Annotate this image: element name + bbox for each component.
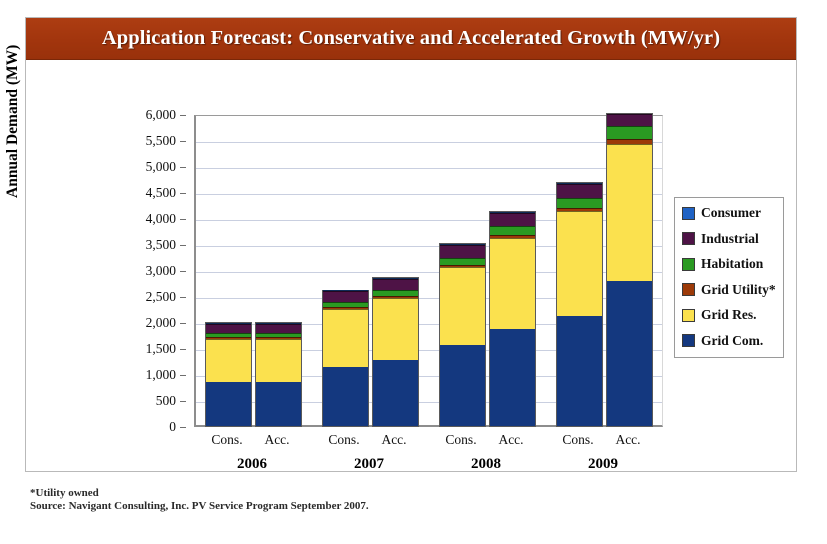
bar-segment-consumer: [490, 212, 535, 213]
x-axis-scenario-label: Cons.: [211, 432, 242, 448]
x-axis-scenario-label: Cons.: [562, 432, 593, 448]
y-axis-tick-labels: 05001,0001,5002,0002,5003,0003,5004,0004…: [124, 115, 186, 427]
bar-2007-cons-[interactable]: [322, 290, 369, 427]
y-axis-tick: [180, 349, 186, 350]
y-axis-tick-label: 0: [169, 419, 176, 435]
bar-segment-industrial: [256, 324, 301, 333]
bar-segment-grid-com-: [323, 367, 368, 426]
bar-segment-habitation: [607, 126, 652, 139]
legend-label-grid-res: Grid Res.: [701, 307, 757, 323]
bar-segment-grid-com-: [440, 345, 485, 426]
y-axis-tick: [180, 141, 186, 142]
y-axis-tick: [180, 193, 186, 194]
bar-2009-acc-[interactable]: [606, 113, 653, 427]
chart-title-bar: Application Forecast: Conservative and A…: [26, 18, 796, 60]
legend-swatch-consumer: [682, 207, 695, 220]
y-axis-tick: [180, 115, 186, 116]
bar-segment-industrial: [323, 291, 368, 301]
y-axis-tick-label: 2,500: [146, 289, 176, 305]
legend-item-grid-com: Grid Com.: [682, 333, 775, 349]
plot-area-wrapper: Annual Demand (MW) 05001,0001,5002,0002,…: [26, 60, 796, 472]
y-axis-tick: [180, 375, 186, 376]
bar-segment-grid-res-: [440, 267, 485, 345]
bar-2006-acc-[interactable]: [255, 322, 302, 427]
bar-segment-grid-utility-: [440, 265, 485, 267]
x-axis-scenario-label: Cons.: [445, 432, 476, 448]
bar-2007-acc-[interactable]: [372, 277, 419, 427]
y-axis-tick-label: 6,000: [146, 107, 176, 123]
y-axis-tick: [180, 271, 186, 272]
bar-segment-grid-res-: [206, 339, 251, 382]
legend-item-grid-res: Grid Res.: [682, 307, 775, 323]
bar-segment-consumer: [373, 278, 418, 279]
x-axis-scenario-label: Acc.: [264, 432, 289, 448]
y-axis-tick: [180, 323, 186, 324]
bar-segment-grid-utility-: [607, 139, 652, 144]
bar-segment-grid-utility-: [256, 337, 301, 338]
y-axis-tick-label: 4,000: [146, 211, 176, 227]
legend-item-industrial: Industrial: [682, 231, 775, 247]
bar-segment-grid-com-: [557, 316, 602, 426]
x-axis-year-label-2007: 2007: [354, 456, 384, 473]
bar-segment-grid-utility-: [557, 208, 602, 211]
x-axis-year-label-2009: 2009: [588, 456, 618, 473]
legend-item-consumer: Consumer: [682, 205, 775, 221]
legend-label-habitation: Habitation: [701, 256, 763, 272]
bar-segment-industrial: [373, 279, 418, 290]
x-axis-scenario-label: Acc.: [381, 432, 406, 448]
y-axis-tick: [180, 167, 186, 168]
y-axis-tick-label: 500: [156, 393, 176, 409]
bar-2009-cons-[interactable]: [556, 182, 603, 427]
bar-segment-grid-utility-: [323, 307, 368, 309]
bar-segment-consumer: [323, 290, 368, 291]
bar-2006-cons-[interactable]: [205, 322, 252, 427]
bar-segment-habitation: [440, 258, 485, 265]
chart-card: Application Forecast: Conservative and A…: [25, 17, 797, 472]
page-title: Application Forecast: Conservative and A…: [102, 27, 720, 50]
y-axis-tick: [180, 401, 186, 402]
bar-segment-habitation: [256, 333, 301, 338]
legend-swatch-industrial: [682, 232, 695, 245]
legend-label-grid-utility: Grid Utility*: [701, 282, 776, 298]
y-axis-tick-label: 5,000: [146, 159, 176, 175]
bar-segment-industrial: [607, 114, 652, 126]
bar-segment-grid-res-: [373, 298, 418, 360]
y-axis-tick: [180, 427, 186, 428]
x-axis-year-label-2008: 2008: [471, 456, 501, 473]
footnote-utility-owned: *Utility owned: [30, 487, 369, 500]
bar-segment-consumer: [557, 183, 602, 184]
bar-segment-consumer: [440, 244, 485, 245]
bar-segment-habitation: [373, 290, 418, 296]
y-axis-tick-label: 3,500: [146, 237, 176, 253]
legend-swatch-grid-res: [682, 309, 695, 322]
bar-segment-grid-utility-: [373, 296, 418, 298]
y-axis-tick: [180, 219, 186, 220]
legend-item-grid-utility: Grid Utility*: [682, 282, 775, 298]
screenshot-root: Application Forecast: Conservative and A…: [0, 0, 827, 544]
bar-segment-grid-res-: [557, 211, 602, 316]
bar-segment-grid-res-: [256, 339, 301, 382]
legend-item-habitation: Habitation: [682, 256, 775, 272]
y-axis-tick-label: 4,500: [146, 185, 176, 201]
legend-swatch-grid-com: [682, 334, 695, 347]
bar-segment-industrial: [440, 245, 485, 257]
y-axis-title: Annual Demand (MW): [4, 45, 22, 198]
bar-segment-habitation: [323, 302, 368, 308]
y-axis-tick: [180, 297, 186, 298]
bar-segment-grid-com-: [206, 382, 251, 426]
bar-segment-industrial: [557, 184, 602, 198]
x-axis-year-label-2006: 2006: [237, 456, 267, 473]
x-axis-labels: Cons.Acc.Cons.Acc.Cons.Acc.Cons.Acc.2006…: [194, 432, 663, 492]
y-axis-tick-label: 2,000: [146, 315, 176, 331]
legend-label-grid-com: Grid Com.: [701, 333, 763, 349]
chart-footnotes: *Utility owned Source: Navigant Consulti…: [30, 487, 369, 513]
legend-label-consumer: Consumer: [701, 205, 761, 221]
bar-segment-grid-com-: [490, 329, 535, 426]
bar-series-layer: [194, 115, 663, 427]
bar-segment-grid-com-: [607, 281, 652, 426]
bar-segment-industrial: [490, 213, 535, 227]
legend-swatch-habitation: [682, 258, 695, 271]
bar-segment-consumer: [256, 323, 301, 324]
x-axis-scenario-label: Cons.: [328, 432, 359, 448]
legend-swatch-grid-utility: [682, 283, 695, 296]
bar-segment-grid-com-: [256, 382, 301, 426]
bar-segment-habitation: [206, 333, 251, 338]
bar-segment-grid-com-: [373, 360, 418, 426]
y-axis-tick-label: 3,000: [146, 263, 176, 279]
bar-2008-acc-[interactable]: [489, 211, 536, 427]
bar-segment-grid-res-: [607, 144, 652, 281]
x-axis-scenario-label: Acc.: [615, 432, 640, 448]
y-axis-tick-label: 1,000: [146, 367, 176, 383]
y-axis-tick: [180, 245, 186, 246]
footnote-source: Source: Navigant Consulting, Inc. PV Ser…: [30, 500, 369, 513]
bar-segment-grid-utility-: [206, 337, 251, 338]
bar-segment-industrial: [206, 324, 251, 333]
bar-segment-grid-utility-: [490, 235, 535, 238]
x-axis-scenario-label: Acc.: [498, 432, 523, 448]
bar-segment-consumer: [206, 323, 251, 324]
legend-label-industrial: Industrial: [701, 231, 759, 247]
y-axis-tick-label: 5,500: [146, 133, 176, 149]
bar-segment-grid-res-: [490, 238, 535, 330]
bar-segment-habitation: [557, 198, 602, 208]
y-axis-tick-label: 1,500: [146, 341, 176, 357]
bar-segment-habitation: [490, 226, 535, 235]
chart-legend: Consumer Industrial Habitation Grid Util…: [674, 197, 784, 358]
bar-2008-cons-[interactable]: [439, 243, 486, 427]
bar-segment-grid-res-: [323, 309, 368, 367]
